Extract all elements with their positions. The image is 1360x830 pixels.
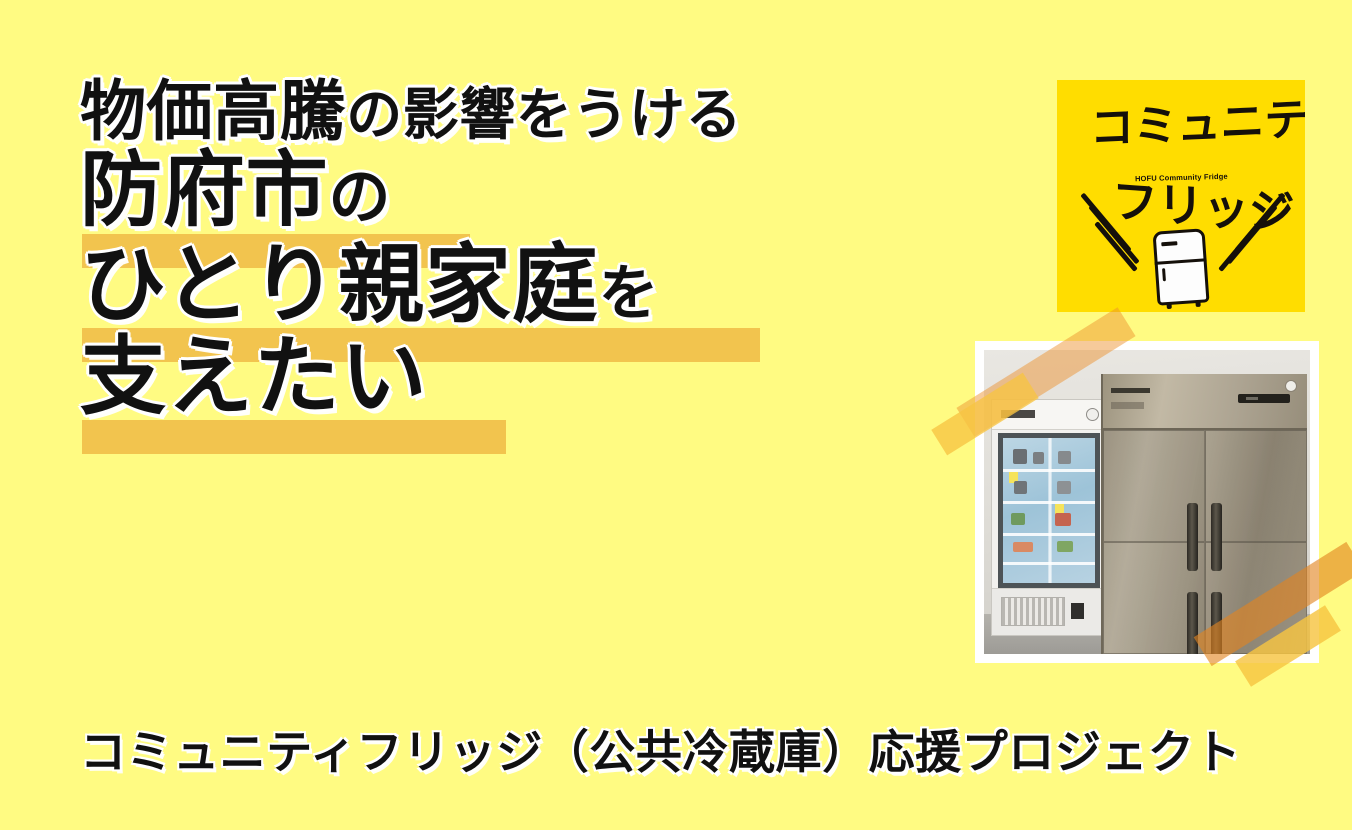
photo-white-frame [975, 341, 1319, 663]
fridge-indicator [1285, 380, 1297, 392]
fridge-handle-bottom-left [1187, 592, 1198, 654]
fridge-model-label [1111, 402, 1144, 408]
glass-door-divider [1048, 438, 1052, 583]
headline-line-3-rest: を [599, 260, 660, 327]
glass-fridge-badge [1001, 410, 1036, 418]
glass-fridge-door [998, 433, 1100, 588]
stocked-item [1013, 449, 1028, 464]
fridge-top-housing [1103, 374, 1306, 430]
stocked-item [1057, 541, 1073, 553]
logo-artwork: コミュニティ HOFU Community Fridge フリッジ [1057, 80, 1305, 312]
headline-line-2-emphasis: 防府市 [80, 145, 328, 236]
stocked-item [1055, 513, 1071, 526]
fridge-brand-label [1111, 388, 1150, 393]
base-switch [1071, 603, 1084, 619]
stocked-item [1058, 451, 1071, 464]
logo-text-line-2: フリッジ [1112, 178, 1294, 237]
stocked-item [1033, 452, 1044, 464]
fridge-control-panel [1238, 394, 1291, 404]
headline-line-2: 防府市の [80, 150, 940, 232]
stocked-item [1014, 481, 1027, 494]
headline-block: 物価高騰の影響をうける 防府市の ひとり親家庭を 支えたい [80, 78, 940, 438]
headline-line-1-emphasis: 物価高騰 [80, 74, 346, 148]
stainless-four-door-fridge [1101, 374, 1306, 654]
poster-canvas: 物価高騰の影響をうける 防府市の ひとり親家庭を 支えたい コミ [0, 0, 1352, 830]
project-caption: コミュニティフリッジ（公共冷蔵庫）応援プロジェクト [80, 716, 1241, 782]
fridge-handle-bottom-right [1211, 592, 1222, 654]
glass-door-fridge [991, 399, 1108, 636]
refrigerator-icon [1152, 228, 1209, 305]
headline-line-2-rest: の [328, 163, 391, 232]
fridge-icon-foot-left [1166, 303, 1171, 309]
fridge-handle-top-right [1211, 503, 1222, 571]
fridge-photo [984, 350, 1310, 654]
stocked-item [1011, 513, 1026, 525]
headline-line-1-rest: の影響をうける [346, 83, 742, 146]
headline-line-3: ひとり親家庭を [80, 242, 940, 328]
fridge-icon-handle [1162, 268, 1166, 281]
fridge-handle-top-left [1187, 503, 1198, 571]
community-fridge-logo: コミュニティ HOFU Community Fridge フリッジ [1057, 80, 1305, 312]
fridge-icon-foot-right [1195, 301, 1200, 307]
headline-line-3-emphasis: ひとり親家庭 [80, 237, 599, 333]
glass-fridge-base [992, 588, 1107, 635]
logo-text-line-1: コミュニティ [1090, 96, 1305, 151]
stocked-item [1013, 542, 1033, 552]
headline-line-1: 物価高騰の影響をうける [80, 78, 940, 144]
highlight-bar-line-4 [82, 420, 506, 454]
stocked-item [1057, 481, 1072, 494]
fridge-photo-block [975, 341, 1319, 663]
headline-line-4: 支えたい [80, 334, 940, 420]
headline-line-4-emphasis: 支えたい [80, 334, 427, 420]
poster-root: 物価高騰の影響をうける 防府市の ひとり親家庭を 支えたい コミ [0, 0, 1360, 830]
condenser-grille [1001, 597, 1066, 626]
glass-fridge-dial [1086, 408, 1099, 421]
